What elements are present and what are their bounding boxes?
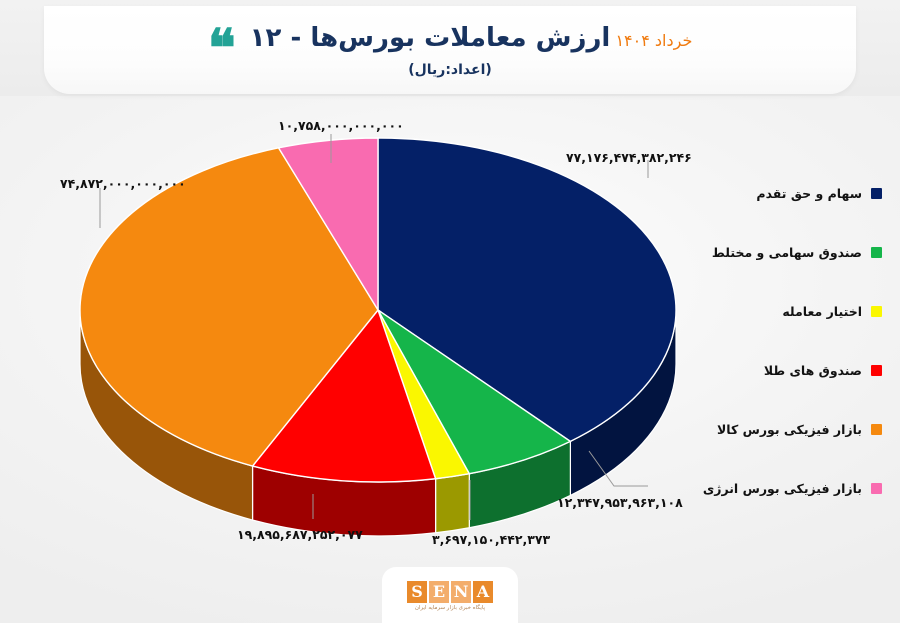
logo-letter-e: E xyxy=(429,581,449,603)
legend-item-label: صندوق های طلا xyxy=(764,363,862,378)
legend-item-sahm[interactable]: سهام و حق تقدم xyxy=(700,164,886,223)
legend-item-ekhtiar[interactable]: اختیار معامله xyxy=(700,282,886,341)
value-label-ekhtiar: ۳,۶۹۷,۱۵۰,۴۴۲,۳۷۳ xyxy=(432,532,550,547)
value-label-sahm: ۷۷,۱۷۶,۴۷۴,۳۸۲,۲۴۶ xyxy=(566,150,692,165)
value-label-sandoogh-sahami: ۱۲,۳۴۷,۹۵۳,۹۶۳,۱۰۸ xyxy=(557,495,683,510)
legend-item-tala[interactable]: صندوق های طلا xyxy=(700,341,886,400)
legend-item-label: اختیار معامله xyxy=(782,304,862,319)
legend-swatch-icon xyxy=(871,365,882,376)
value-label-tala: ۱۹,۸۹۵,۶۸۷,۲۵۲,۰۷۷ xyxy=(237,527,363,542)
logo-letter-a: A xyxy=(473,581,493,603)
value-label-kala: ۷۴,۸۷۲,۰۰۰,۰۰۰,۰۰۰ xyxy=(60,176,186,191)
logo-letter-s: S xyxy=(407,581,427,603)
legend-item-label: بازار فیزیکی بورس انرژی xyxy=(703,481,862,496)
value-label-energy: ۱۰,۷۵۸,۰۰۰,۰۰۰,۰۰۰ xyxy=(278,118,404,133)
legend-swatch-icon xyxy=(871,483,882,494)
legend-item-kala[interactable]: بازار فیزیکی بورس کالا xyxy=(700,400,886,459)
legend-item-label: سهام و حق تقدم xyxy=(756,186,862,201)
legend-item-sandoogh-sahami[interactable]: صندوق سهامی و مختلط xyxy=(700,223,886,282)
legend-swatch-icon xyxy=(871,306,882,317)
legend-item-energy[interactable]: بازار فیزیکی بورس انرژی xyxy=(700,459,886,518)
legend-item-label: بازار فیزیکی بورس کالا xyxy=(717,422,862,437)
legend-item-label: صندوق سهامی و مختلط xyxy=(712,245,862,260)
logo-letter-n: N xyxy=(451,581,471,603)
pie-group xyxy=(80,138,676,536)
legend-swatch-icon xyxy=(871,247,882,258)
sena-logo: S E N A پایگاه خبری بازار سرمایه ایران xyxy=(407,581,493,611)
legend-swatch-icon xyxy=(871,424,882,435)
infographic-page: ❝ خرداد ۱۴۰۴ ارزش معاملات بورس‌ها - ۱۲ (… xyxy=(0,0,900,623)
legend-swatch-icon xyxy=(871,188,882,199)
legend: سهام و حق تقدم صندوق سهامی و مختلط اختیا… xyxy=(700,164,886,518)
logo-tagline: پایگاه خبری بازار سرمایه ایران xyxy=(415,605,485,611)
logo-letters: S E N A xyxy=(407,581,493,603)
